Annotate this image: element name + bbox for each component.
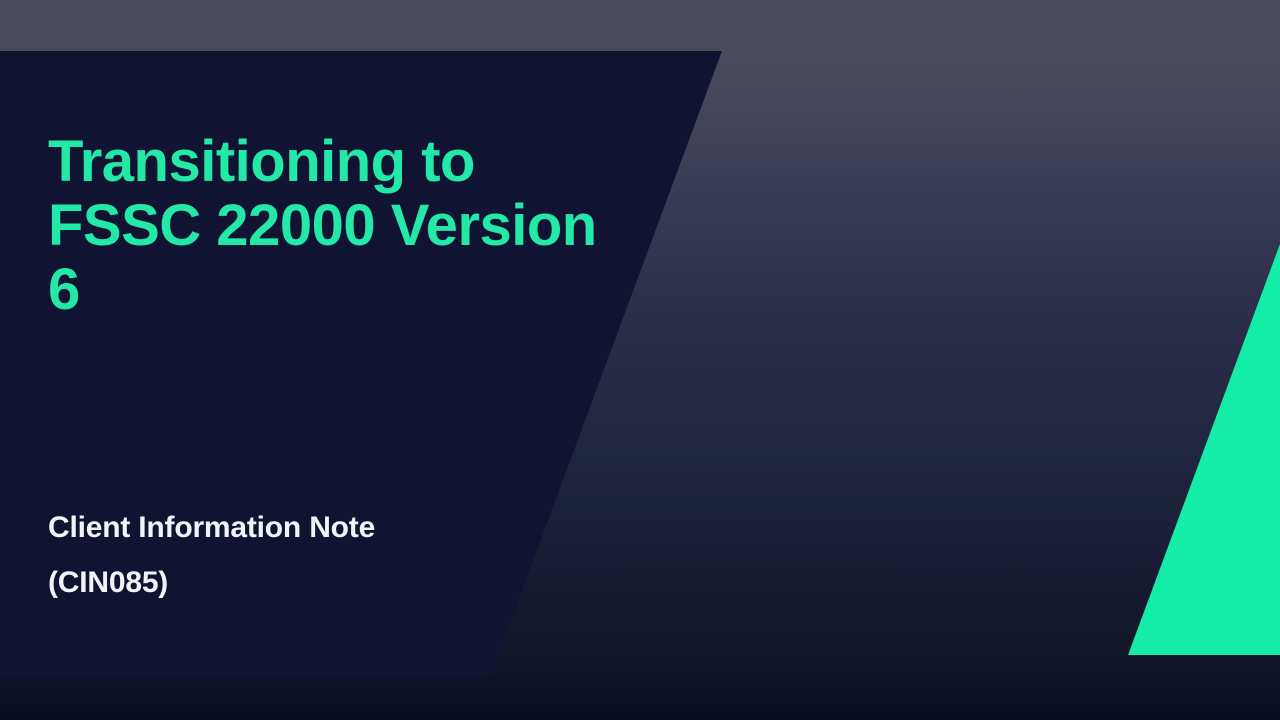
- angled-green-triangle-shape: [1128, 244, 1280, 655]
- title-slide: Transitioning to FSSC 22000 Version 6 Cl…: [0, 0, 1280, 720]
- slide-decoration-layer: [0, 0, 1280, 720]
- angled-navy-panel-shape: [0, 51, 722, 677]
